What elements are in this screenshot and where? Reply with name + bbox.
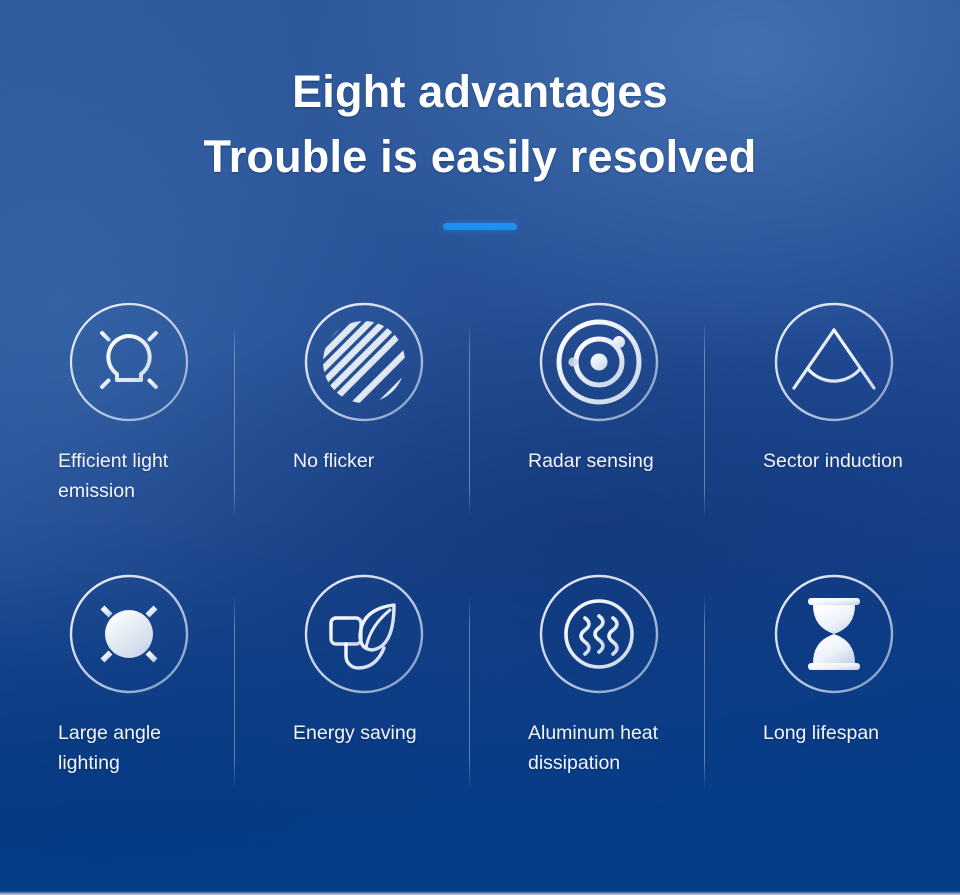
feature-large-angle-lighting[interactable]: Large angle lighting: [0, 572, 235, 778]
page-title-line-1: Eight advantages: [0, 62, 960, 122]
sun-icon: [67, 572, 191, 696]
radar-icon: [537, 300, 661, 424]
plug-leaf-icon: [302, 572, 426, 696]
feature-no-flicker[interactable]: No flicker: [235, 300, 470, 506]
striped-circle-icon: [302, 300, 426, 424]
page-title-line-2: Trouble is easily resolved: [0, 127, 960, 187]
sector-cone-icon: [772, 300, 896, 424]
feature-label: Energy saving: [293, 718, 417, 748]
feature-long-lifespan[interactable]: Long lifespan: [705, 572, 950, 778]
feature-label: Aluminum heat dissipation: [528, 718, 698, 778]
features-row-2: Large angle lighting: [0, 572, 960, 778]
feature-label: Efficient light emission: [58, 446, 228, 506]
accent-divider-bar: [443, 223, 517, 230]
feature-label: Long lifespan: [763, 718, 879, 748]
feature-label: Sector induction: [763, 446, 903, 476]
lightbulb-icon: [67, 300, 191, 424]
feature-label: No flicker: [293, 446, 374, 476]
feature-label: Radar sensing: [528, 446, 654, 476]
features-row-1: Efficient light emission: [0, 300, 960, 506]
feature-sector-induction[interactable]: Sector induction: [705, 300, 950, 506]
feature-label: Large angle lighting: [58, 718, 228, 778]
feature-aluminum-heat-dissipation[interactable]: Aluminum heat dissipation: [470, 572, 705, 778]
feature-radar-sensing[interactable]: Radar sensing: [470, 300, 705, 506]
feature-efficient-light-emission[interactable]: Efficient light emission: [0, 300, 235, 506]
bottom-edge-strip: [0, 891, 960, 895]
features-grid: Efficient light emission: [0, 300, 960, 778]
feature-energy-saving[interactable]: Energy saving: [235, 572, 470, 778]
header: Eight advantages Trouble is easily resol…: [0, 62, 960, 230]
heat-waves-icon: [537, 572, 661, 696]
advantages-banner: Eight advantages Trouble is easily resol…: [0, 0, 960, 895]
hourglass-icon: [772, 572, 896, 696]
